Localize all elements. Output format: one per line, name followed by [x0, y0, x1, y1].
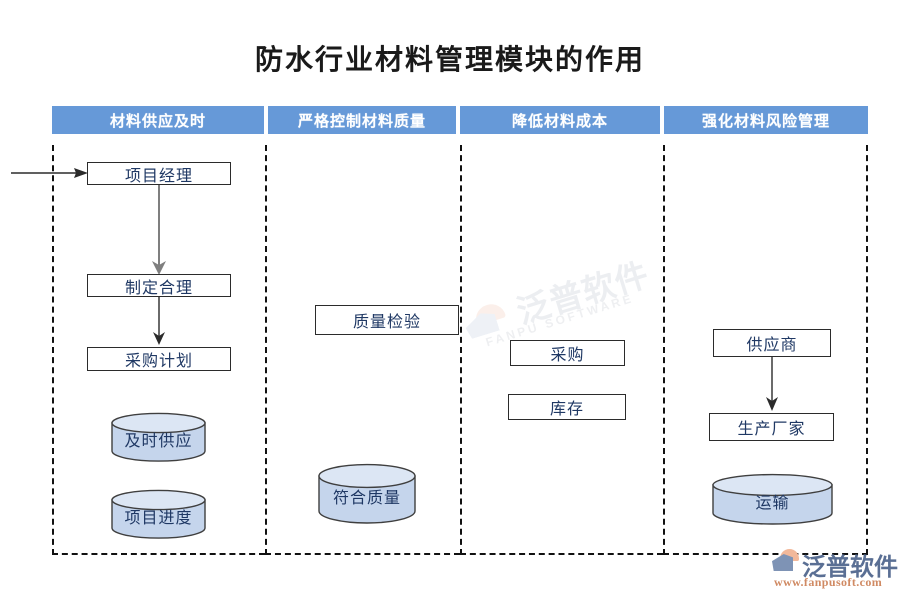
box-col2-1[interactable]: 质量检验 [315, 305, 459, 335]
box-col4-2[interactable]: 生产厂家 [709, 413, 834, 441]
column-header-4: 强化材料风险管理 [664, 106, 868, 134]
brand-url: www.fanpusoft.com [774, 575, 882, 590]
box-col3-1[interactable]: 采购 [510, 340, 625, 366]
column-header-1: 材料供应及时 [52, 106, 264, 134]
box-col1-3[interactable]: 采购计划 [87, 347, 231, 371]
brand-mark-icon [772, 549, 799, 573]
diagram-canvas: 防水行业材料管理模块的作用 泛普软件 FANPU SOFTWARE 材料供应及时… [0, 0, 900, 600]
box-col1-1[interactable]: 项目经理 [87, 162, 231, 185]
cylinder-col2-1[interactable]: 符合质量 [317, 463, 417, 525]
cylinder-col1-2[interactable]: 项目进度 [110, 489, 207, 539]
box-col1-2[interactable]: 制定合理 [87, 274, 231, 297]
box-col3-2[interactable]: 库存 [508, 394, 626, 420]
column-header-3: 降低材料成本 [460, 106, 660, 134]
box-col4-1[interactable]: 供应商 [713, 329, 831, 357]
brand-logo: 泛普软件 www.fanpusoft.com [772, 548, 894, 594]
column-header-2: 严格控制材料质量 [268, 106, 456, 134]
cylinder-col1-1[interactable]: 及时供应 [110, 412, 207, 462]
cylinder-col4-1[interactable]: 运输 [711, 473, 834, 525]
page-title: 防水行业材料管理模块的作用 [0, 38, 900, 78]
